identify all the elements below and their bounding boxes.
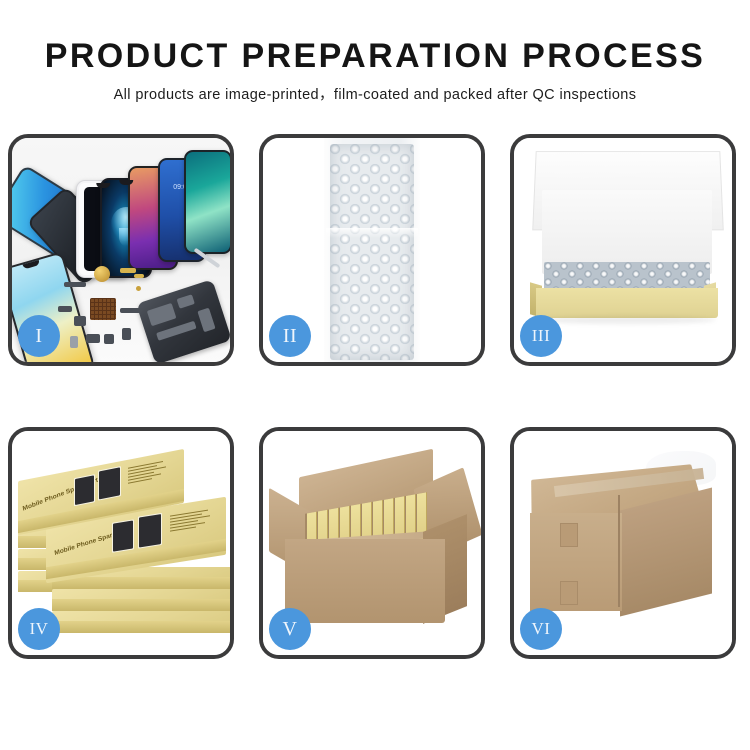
carton-side-face (620, 488, 712, 617)
step-panel-3: III (510, 134, 736, 366)
step-badge-6: VI (520, 608, 562, 650)
chip-grid-part (90, 298, 116, 320)
carton-corner-edge (618, 495, 620, 607)
step-panel-2: II (259, 134, 485, 366)
speaker-coin-part (94, 266, 110, 282)
carton-tab-upper (560, 523, 578, 547)
carton-front-face (285, 539, 445, 623)
box-phone-image-b1 (98, 466, 121, 500)
box-front-wall (536, 288, 718, 318)
small-part-3 (86, 334, 100, 343)
wrap-gloss-highlight (326, 228, 418, 238)
page-subtitle: All products are image-printed，film-coat… (0, 76, 750, 105)
product-preparation-process-page: PRODUCT PREPARATION PROCESS All products… (0, 0, 750, 750)
flex-cable-part-3 (120, 308, 142, 313)
step-panel-4: Mobile Phone Spare Parts Mobile Phone Sp… (8, 427, 234, 659)
screw-part-1 (136, 286, 141, 291)
box-phone-image-a2 (112, 519, 134, 552)
box-shadow (540, 316, 716, 324)
stack-slab-r3 (52, 589, 230, 611)
page-header: PRODUCT PREPARATION PROCESS All products… (0, 0, 750, 105)
connector-part-1 (64, 282, 86, 287)
teal-wave-phone-image (184, 150, 230, 254)
step-panel-1: 09:08 (8, 134, 234, 366)
phone-backplate-image (136, 279, 230, 362)
process-steps-grid: 09:08 (8, 134, 742, 682)
step-badge-1: I (18, 315, 60, 357)
flex-cable-part-1 (120, 268, 136, 273)
bubble-wrap-texture (330, 144, 414, 360)
small-part-2 (70, 336, 78, 348)
box-phone-image-a1 (74, 474, 95, 506)
step-badge-5: V (269, 608, 311, 650)
step-panel-5: V (259, 427, 485, 659)
small-part-5 (122, 328, 131, 340)
step-panel-6: VI (510, 427, 736, 659)
small-part-4 (104, 334, 114, 344)
flex-cable-part-2 (134, 274, 144, 278)
stack-slab-r4 (52, 611, 230, 633)
carton-tab-lower (560, 581, 578, 605)
step-badge-4: IV (18, 608, 60, 650)
small-part-1 (74, 316, 86, 326)
box-phone-image-b2 (138, 513, 162, 549)
step-badge-3: III (520, 315, 562, 357)
small-part-6 (58, 306, 72, 312)
step-badge-2: II (269, 315, 311, 357)
page-title: PRODUCT PREPARATION PROCESS (0, 0, 750, 76)
